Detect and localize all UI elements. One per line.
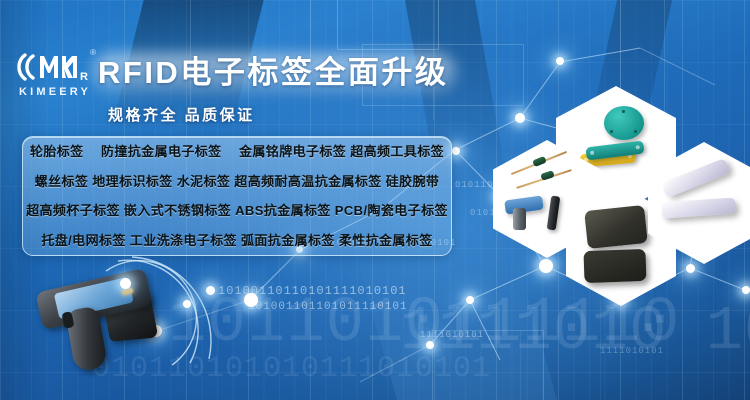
network-node (515, 113, 525, 123)
white-long-tag-product (662, 197, 737, 218)
registered-trademark-icon: ® (90, 48, 96, 57)
network-node (120, 278, 131, 289)
network-node (183, 300, 191, 308)
product-list-row: 托盘/电网标签 工业洗涤电子标签 弧面抗金属标签 柔性抗金属标签 (23, 226, 451, 256)
network-node (556, 57, 564, 65)
black-rod-tag-product (547, 196, 561, 231)
network-node (686, 264, 695, 273)
rfid-banner: 1011010111110 1111010 10 010110101010111… (0, 0, 750, 400)
logo-mark: R ® (12, 50, 98, 84)
network-node (452, 147, 460, 155)
svg-text:R: R (80, 71, 88, 83)
network-node (466, 296, 474, 304)
kmr-logo-icon: R (16, 50, 94, 84)
black-anti-metal-tag-product (583, 249, 646, 283)
round-tag-product (604, 106, 644, 140)
product-list-row: 螺丝标签 地理标识标签 水泥标签 超高频耐高温抗金属标签 硅胶腕带 (23, 167, 451, 197)
product-list-panel: 轮胎标签 防撞抗金属电子标签 金属铭牌电子标签 超高频工具标签 螺丝标签 地理标… (22, 136, 452, 256)
handheld-rfid-reader (30, 272, 170, 392)
page-subtitle: 规格齐全 品质保证 (108, 104, 255, 125)
network-node (539, 259, 553, 273)
black-anti-metal-tag-product (584, 205, 648, 249)
product-list-row: 轮胎标签 防撞抗金属电子标签 金属铭牌电子标签 超高频工具标签 (23, 137, 451, 167)
product-list-row: 超高频杯子标签 嵌入式不锈钢标签 ABS抗金属标签 PCB/陶瓷电子标签 (23, 196, 451, 226)
white-long-tag-product (661, 158, 730, 198)
brand-logo[interactable]: R ® KIMEERY (12, 50, 98, 98)
network-node (426, 341, 434, 349)
title-container: RFID电子标签全面升级 (98, 51, 448, 95)
screw-body (513, 208, 526, 230)
network-node (742, 286, 750, 294)
logo-wordmark: KIMEERY (12, 86, 98, 98)
page-title: RFID电子标签全面升级 (98, 51, 448, 95)
